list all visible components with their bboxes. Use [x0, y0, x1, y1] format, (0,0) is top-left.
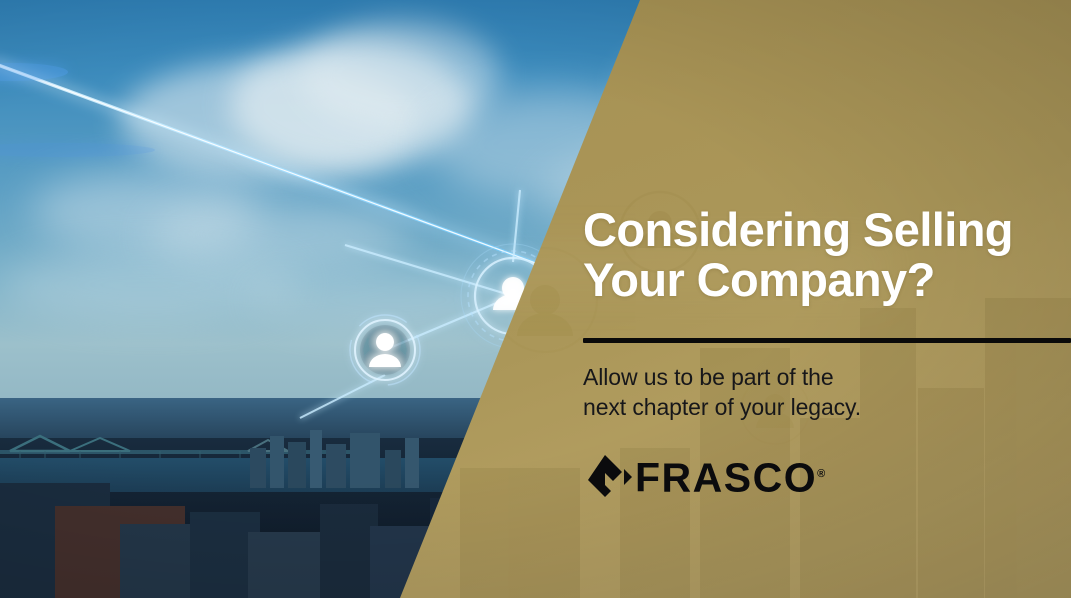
- headline-line-2: Your Company?: [583, 253, 935, 306]
- divider-rule: [583, 338, 1071, 343]
- logo-wordmark-text: FRASCO: [635, 454, 817, 500]
- subheadline-line-2: next chapter of your legacy.: [583, 396, 1053, 418]
- registered-mark: ®: [817, 468, 825, 480]
- user-node-left: [350, 315, 420, 385]
- frasco-diamond-mark: [585, 452, 633, 500]
- subheadline: Allow us to be part of the next chapter …: [583, 366, 1053, 426]
- subheadline-line-1: Allow us to be part of the: [583, 366, 1053, 388]
- content-block: Considering SellingYour Company? Allow u…: [583, 0, 1071, 598]
- headline-line-1: Considering Selling: [583, 203, 1013, 256]
- brand-logo: FRASCO®: [585, 452, 825, 500]
- slide-canvas: Considering SellingYour Company? Allow u…: [0, 0, 1071, 598]
- beam-streak: [0, 62, 560, 272]
- logo-wordmark: FRASCO®: [635, 454, 825, 499]
- page-title: Considering SellingYour Company?: [583, 205, 1053, 305]
